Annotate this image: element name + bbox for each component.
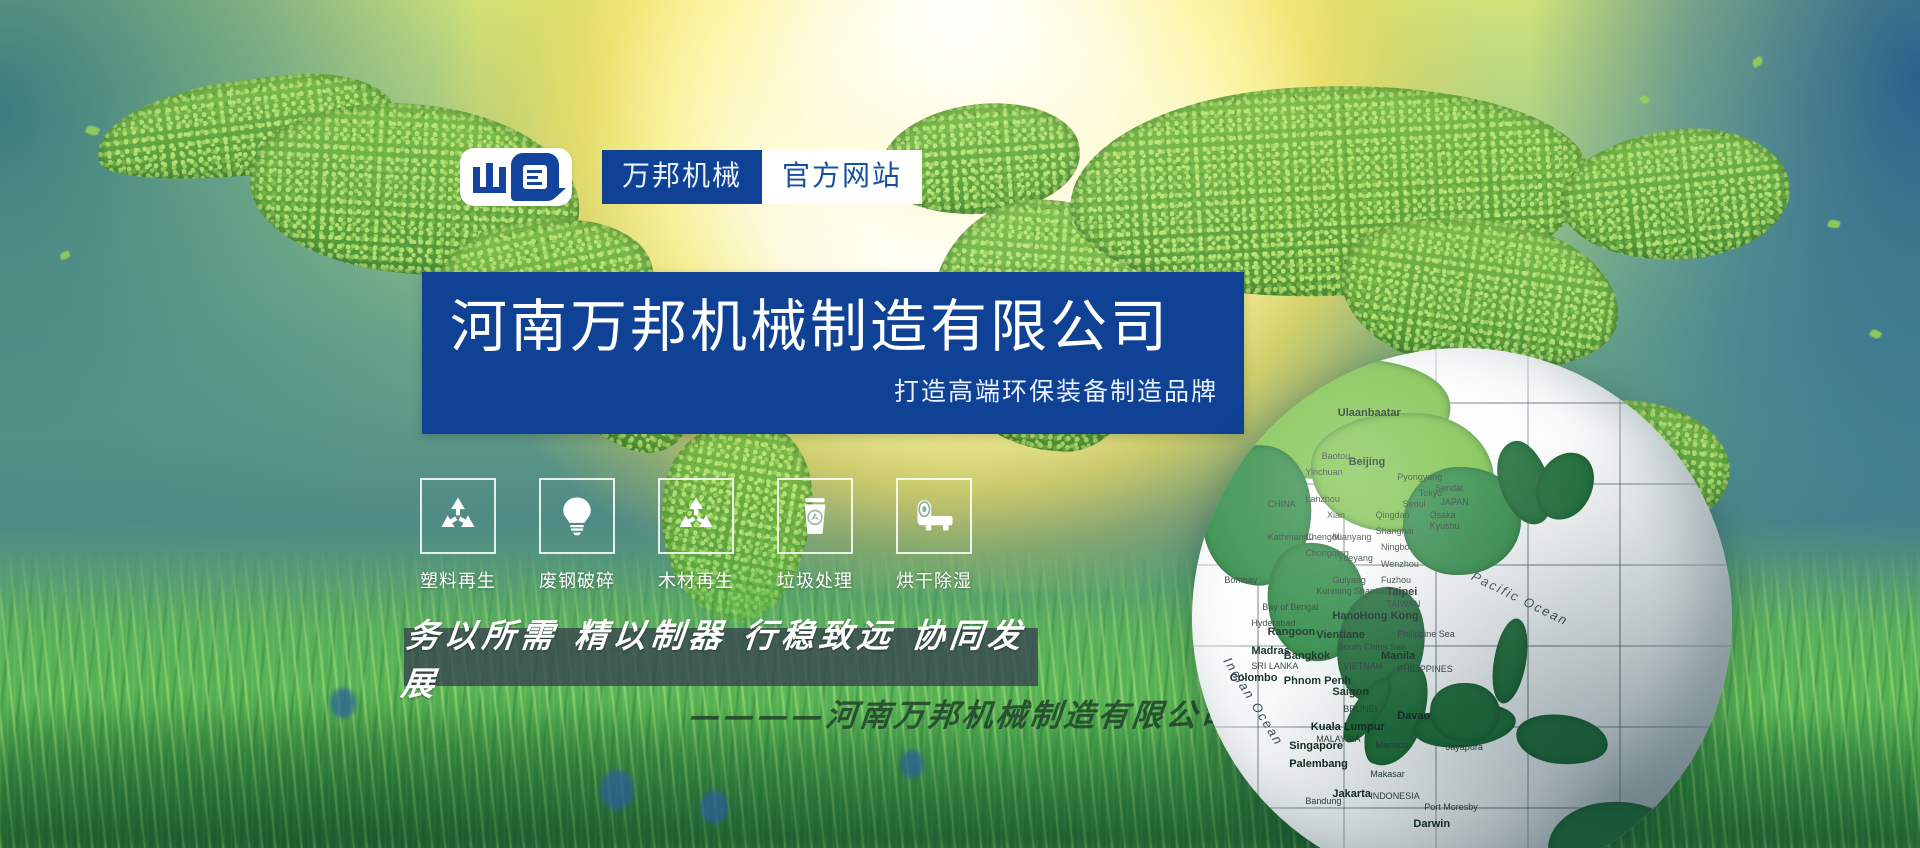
logo-w-icon bbox=[473, 161, 507, 193]
globe-graphic: Ulaanbaatar Beijing Baotou Yinchuan Lanz… bbox=[1192, 348, 1732, 848]
feature-icon-box bbox=[420, 478, 496, 554]
feature-label: 废钢破碎 bbox=[539, 567, 615, 593]
recycle-icon bbox=[674, 494, 718, 538]
feature-icon-box bbox=[539, 478, 615, 554]
grass-flower bbox=[330, 688, 356, 718]
feature-label: 垃圾处理 bbox=[777, 567, 853, 593]
grass-flower bbox=[600, 770, 634, 810]
feature-icon-box bbox=[777, 478, 853, 554]
recycle-icon bbox=[436, 494, 480, 538]
feature-label: 烘干除湿 bbox=[896, 567, 972, 593]
globe-sphere: Ulaanbaatar Beijing Baotou Yinchuan Lanz… bbox=[1192, 348, 1732, 848]
trash-bin-icon bbox=[793, 494, 837, 538]
feature-item-waste-treatment[interactable]: 垃圾处理 bbox=[775, 478, 855, 593]
site-header: 万邦机械 官方网站 bbox=[460, 148, 922, 206]
feature-list: 塑料再生 废钢破碎 bbox=[418, 478, 974, 593]
lightbulb-icon bbox=[555, 494, 599, 538]
logo-b-icon bbox=[511, 153, 559, 201]
feature-label: 塑料再生 bbox=[420, 567, 496, 593]
feature-item-drying-dehumidifying[interactable]: 烘干除湿 bbox=[894, 478, 974, 593]
feature-item-plastic-recycling[interactable]: 塑料再生 bbox=[418, 478, 498, 593]
feature-item-scrap-steel-crushing[interactable]: 废钢破碎 bbox=[537, 478, 617, 593]
grass-flower bbox=[900, 750, 924, 778]
feature-item-wood-recycling[interactable]: 木材再生 bbox=[656, 478, 736, 593]
feature-icon-box bbox=[658, 478, 734, 554]
tab-official-site[interactable]: 官方网站 bbox=[762, 150, 922, 204]
blower-dryer-icon bbox=[912, 494, 956, 538]
slogan-bar: 务以所需 精以制器 行稳致远 协同发展 bbox=[404, 628, 1038, 686]
tab-company-name[interactable]: 万邦机械 bbox=[602, 150, 762, 204]
page-title: 河南万邦机械制造有限公司 bbox=[422, 298, 1244, 358]
hero-banner: 万邦机械 官方网站 河南万邦机械制造有限公司 打造高端环保装备制造品牌 塑料再生 bbox=[0, 0, 1920, 848]
page-subtitle: 打造高端环保装备制造品牌 bbox=[422, 372, 1218, 408]
slogan-signature: ————河南万邦机械制造有限公司 bbox=[688, 690, 1237, 735]
title-banner: 河南万邦机械制造有限公司 打造高端环保装备制造品牌 bbox=[422, 272, 1244, 434]
feature-label: 木材再生 bbox=[658, 567, 734, 593]
feature-icon-box bbox=[896, 478, 972, 554]
grass-flower bbox=[700, 790, 728, 824]
wanbang-logo[interactable] bbox=[460, 148, 572, 206]
